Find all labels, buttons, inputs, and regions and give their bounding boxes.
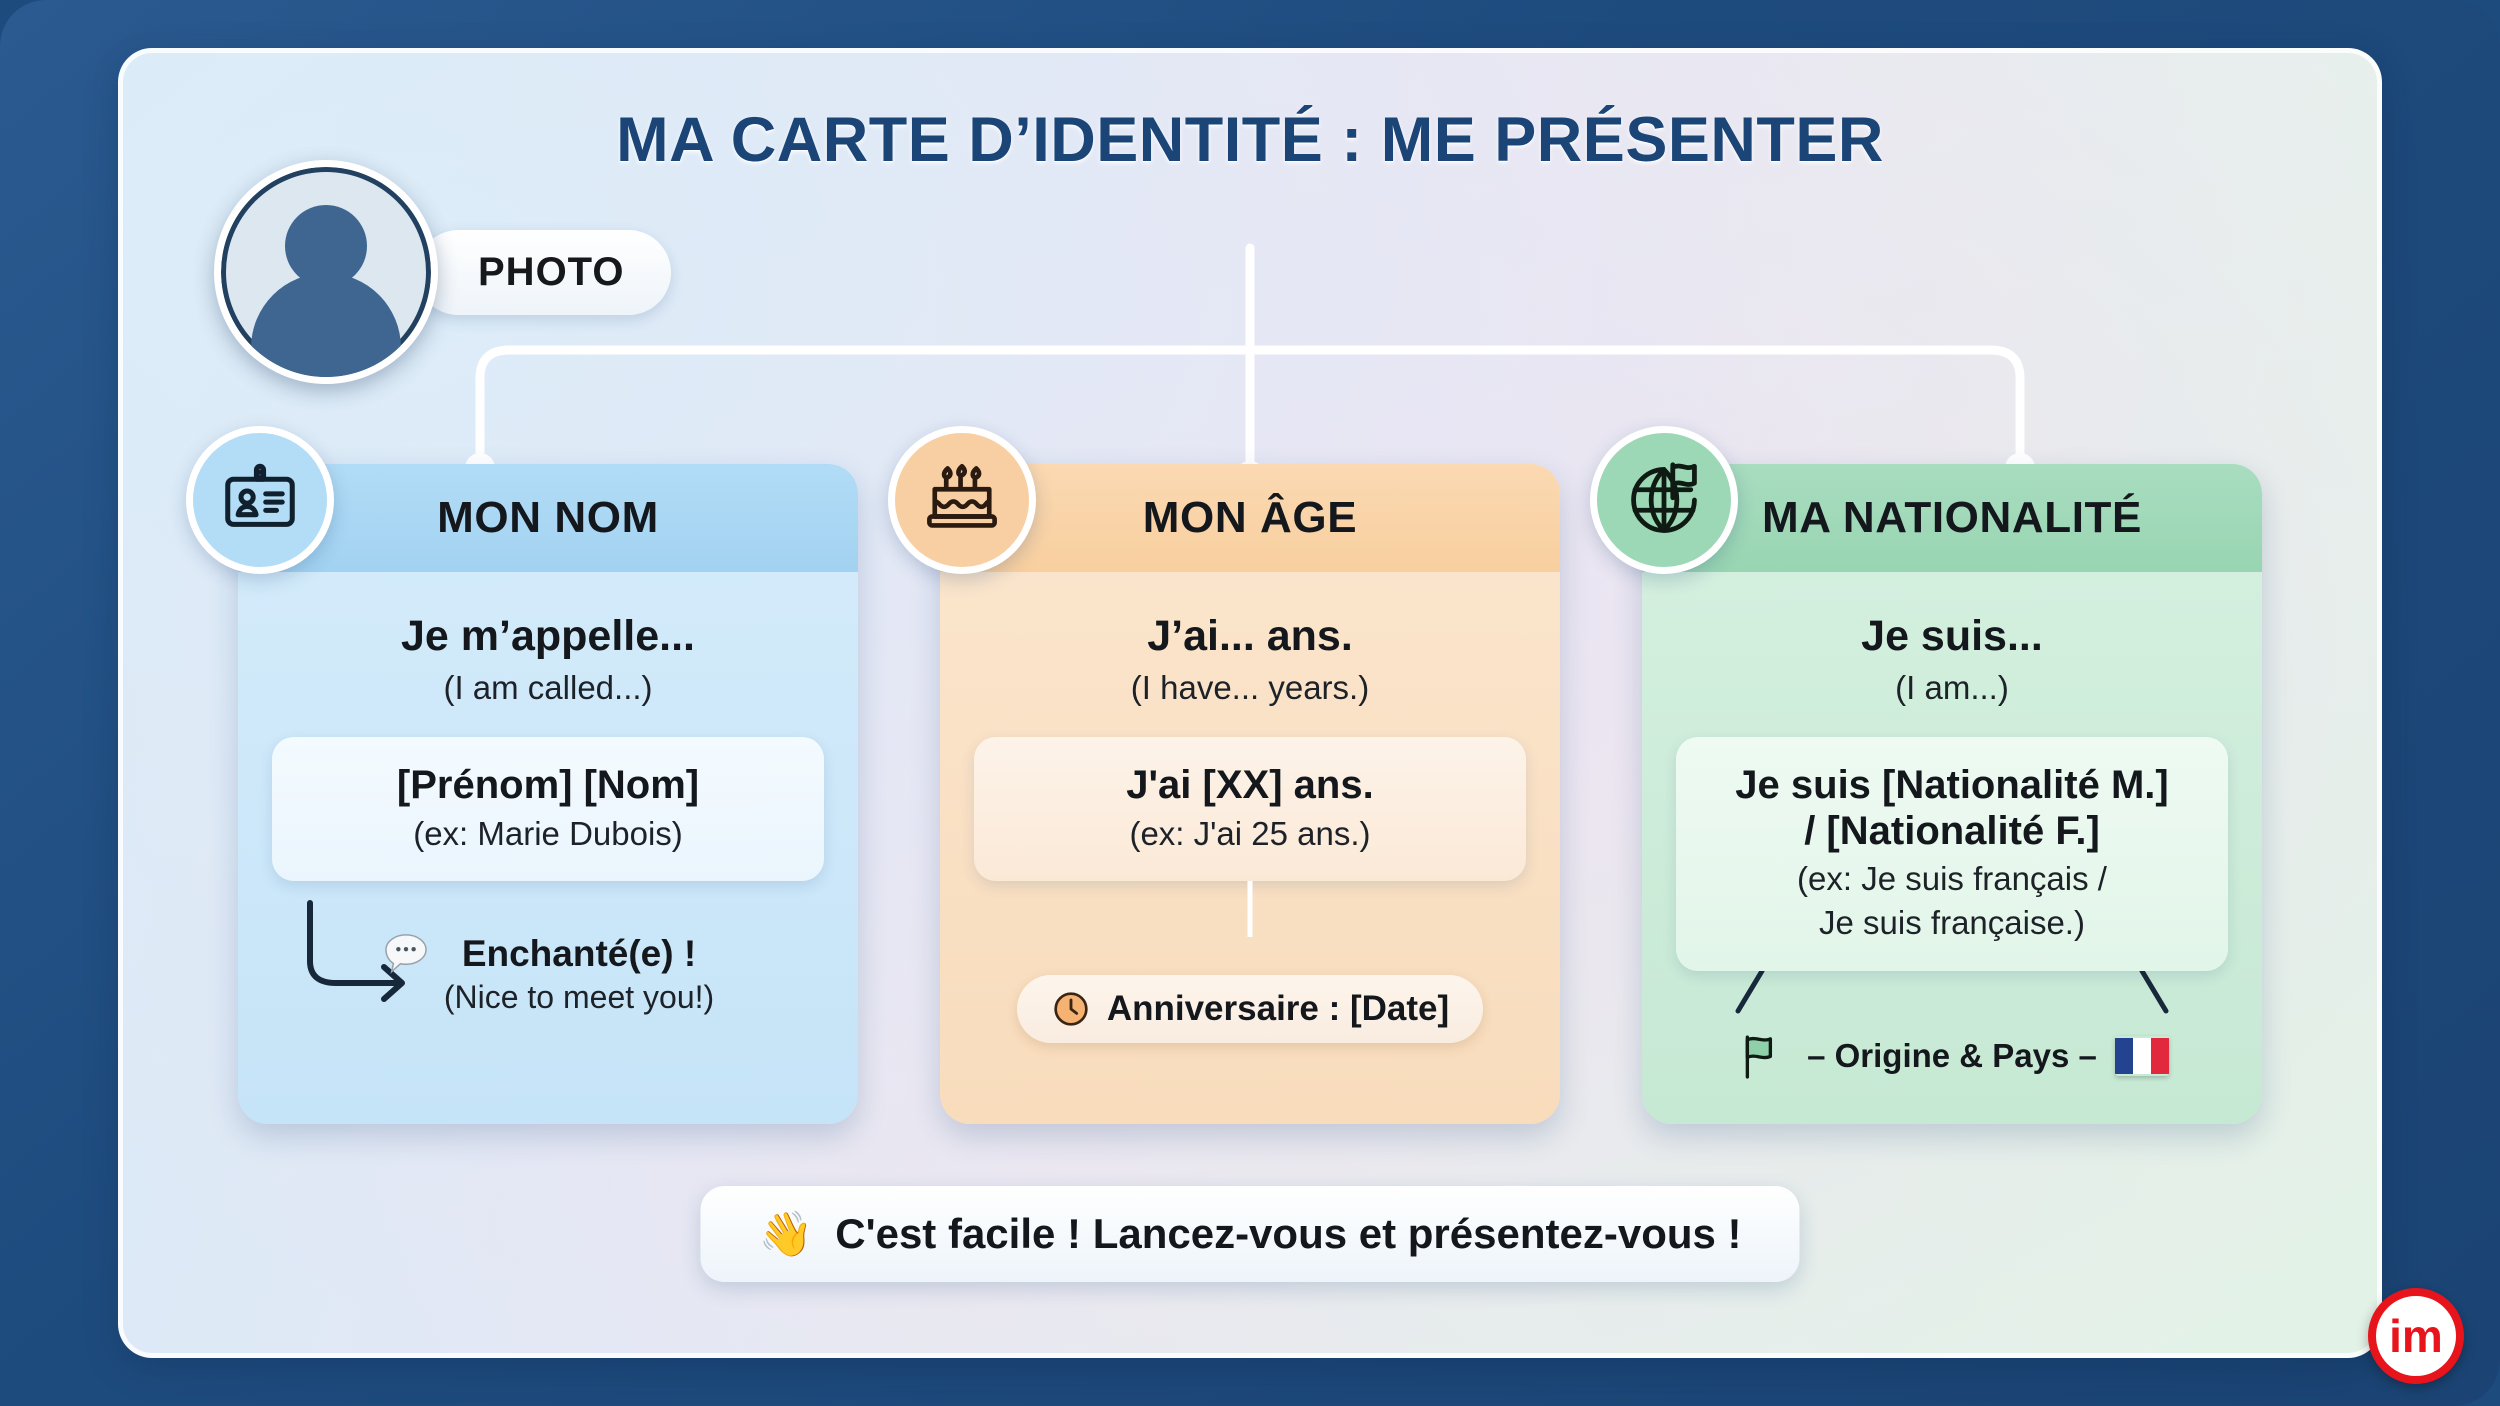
- phrase-block: Je suis... (I am...): [1642, 612, 2262, 707]
- phrase-en: (I have... years.): [940, 669, 1560, 707]
- footer-text: C'est facile ! Lancez-vous et présentez-…: [835, 1210, 1741, 1258]
- example-box-mon-nom: [Prénom] [Nom] (ex: Marie Dubois): [272, 737, 824, 881]
- content-panel: MA CARTE D’IDENTITÉ : ME PRÉSENTER PHOTO: [118, 48, 2382, 1358]
- tail-block-mon-nom: Enchanté(e) ! (Nice to meet you!): [238, 899, 858, 1035]
- phrase-fr: J’ai... ans.: [940, 612, 1560, 661]
- phrase-en: (I am called...): [238, 669, 858, 707]
- example-line-2: (ex: Marie Dubois): [294, 815, 802, 853]
- birthday-cake-icon: [888, 426, 1036, 574]
- footer-banner: 👋 C'est facile ! Lancez-vous et présente…: [700, 1186, 1799, 1282]
- origin-connector-wrap: [1642, 971, 2262, 1015]
- avatar-body-icon: [251, 273, 401, 383]
- phrase-en: (I am...): [1642, 669, 2262, 707]
- infographic-root: MA CARTE D’IDENTITÉ : ME PRÉSENTER PHOTO: [0, 0, 2500, 1406]
- vertical-connector: [1246, 881, 1254, 937]
- card-mon-age[interactable]: MON ÂGE J’ai... ans. (I have... years.) …: [940, 464, 1560, 1124]
- tail-text-en: (Nice to meet you!): [444, 979, 714, 1016]
- flag-icon: [1735, 1033, 1789, 1079]
- diagonal-connectors: [1642, 971, 2262, 1015]
- photo-group: PHOTO: [214, 160, 671, 384]
- origine-pays-label: – Origine & Pays –: [1807, 1037, 2097, 1075]
- example-line-2b: Je suis française.): [1698, 904, 2206, 942]
- avatar: [214, 160, 438, 384]
- card-ma-nationalite[interactable]: MA NATIONALITÉ Je suis... (I am...) Je s…: [1642, 464, 2262, 1124]
- example-box-ma-nationalite: Je suis [Nationalité M.] / [Nationalité …: [1676, 737, 2228, 971]
- example-line-1b: / [Nationalité F.]: [1698, 809, 2206, 855]
- speech-bubble-icon: [382, 933, 430, 975]
- wave-hand-icon: 👋: [758, 1208, 813, 1260]
- phrase-block: J’ai... ans. (I have... years.): [940, 612, 1560, 707]
- pill-connector-wrap: [940, 881, 1560, 951]
- example-line-1: J'ai [XX] ans.: [996, 763, 1504, 809]
- phrase-fr: Je m’appelle...: [238, 612, 858, 661]
- card-mon-nom[interactable]: MON NOM Je m’appelle... (I am called...)…: [238, 464, 858, 1124]
- example-line-1: [Prénom] [Nom]: [294, 763, 802, 809]
- example-line-2: (ex: Je suis français /: [1698, 860, 2206, 898]
- tail-text-fr: Enchanté(e) !: [444, 933, 714, 975]
- phrase-fr: Je suis...: [1642, 612, 2262, 661]
- clock-icon: [1051, 989, 1091, 1029]
- cards-row: MON NOM Je m’appelle... (I am called...)…: [118, 464, 2382, 1124]
- brand-logo[interactable]: im: [2368, 1288, 2464, 1384]
- example-line-1: Je suis [Nationalité M.]: [1698, 763, 2206, 809]
- origine-pays-row: – Origine & Pays –: [1642, 1033, 2262, 1079]
- france-flag-icon: [2115, 1036, 2169, 1076]
- example-line-2: (ex: J'ai 25 ans.): [996, 815, 1504, 853]
- anniversaire-label: Anniversaire : [Date]: [1107, 989, 1449, 1029]
- example-box-mon-age: J'ai [XX] ans. (ex: J'ai 25 ans.): [974, 737, 1526, 881]
- anniversaire-pill[interactable]: Anniversaire : [Date]: [1017, 975, 1483, 1043]
- globe-flag-icon: [1590, 426, 1738, 574]
- id-badge-icon: [186, 426, 334, 574]
- phrase-block: Je m’appelle... (I am called...): [238, 612, 858, 707]
- photo-label: PHOTO: [416, 230, 671, 315]
